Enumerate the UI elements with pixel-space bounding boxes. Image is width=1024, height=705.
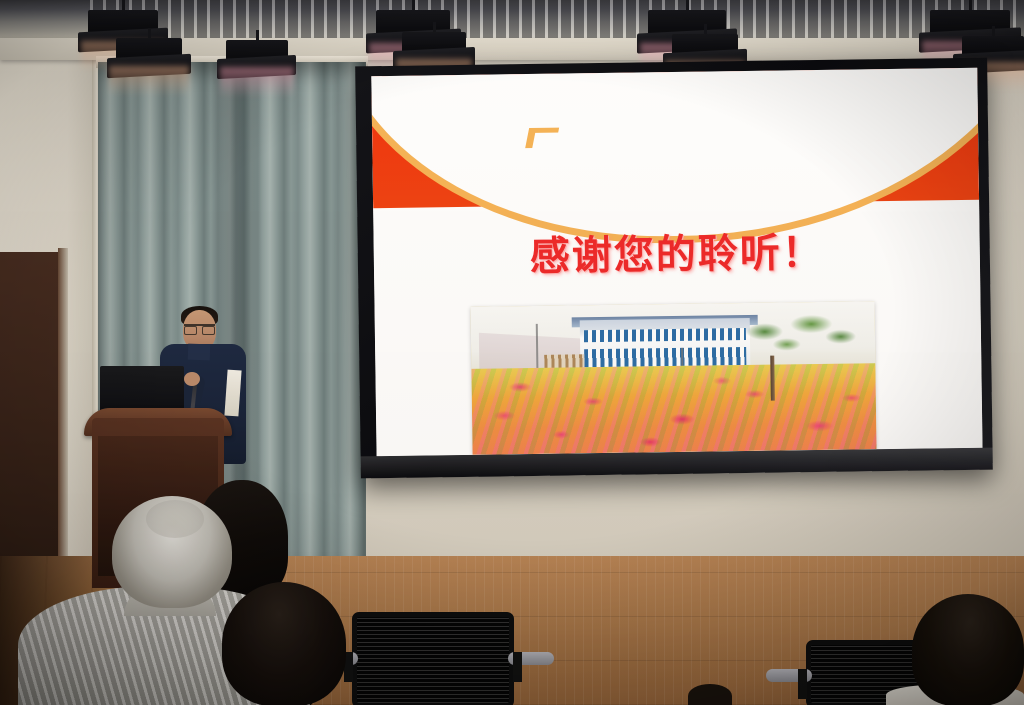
photo-tree-trunk — [770, 356, 775, 400]
photo-tree-canopy — [721, 310, 867, 362]
photo-flower-field — [471, 363, 876, 454]
slide-thank-you: 感谢您的聆听！ — [371, 68, 982, 456]
slide-photo — [471, 301, 877, 455]
presentation-photo-scene: 感谢您的聆听！ — [0, 0, 1024, 705]
slide-title: 感谢您的聆听！ — [373, 218, 980, 284]
projection-display[interactable]: 感谢您的聆听！ — [355, 58, 993, 479]
audience-member-gray-hair-crown — [146, 500, 204, 538]
ribbon-notch-inner — [531, 133, 561, 153]
speaker-collar — [188, 344, 211, 361]
side-door[interactable] — [0, 252, 62, 582]
audience-member-dark-hair-center — [222, 582, 346, 705]
light-spill — [109, 66, 188, 96]
chair-2[interactable] — [352, 612, 514, 705]
screen-surface: 感谢您的聆听！ — [371, 68, 982, 456]
stage-light-2 — [116, 28, 182, 80]
chair-mesh-back — [352, 612, 514, 705]
chair-arm-post-right — [513, 652, 522, 682]
slide-gold-ribbon-curve — [371, 68, 982, 241]
light-spill — [220, 67, 294, 97]
door-frame — [58, 248, 68, 584]
stage-light-3 — [226, 30, 288, 80]
audience-member-right — [912, 594, 1024, 705]
glasses-icon — [184, 324, 215, 333]
audience-member-back-row — [688, 684, 732, 705]
chair-arm-post-left — [798, 669, 807, 699]
speaker-hand — [184, 372, 200, 386]
